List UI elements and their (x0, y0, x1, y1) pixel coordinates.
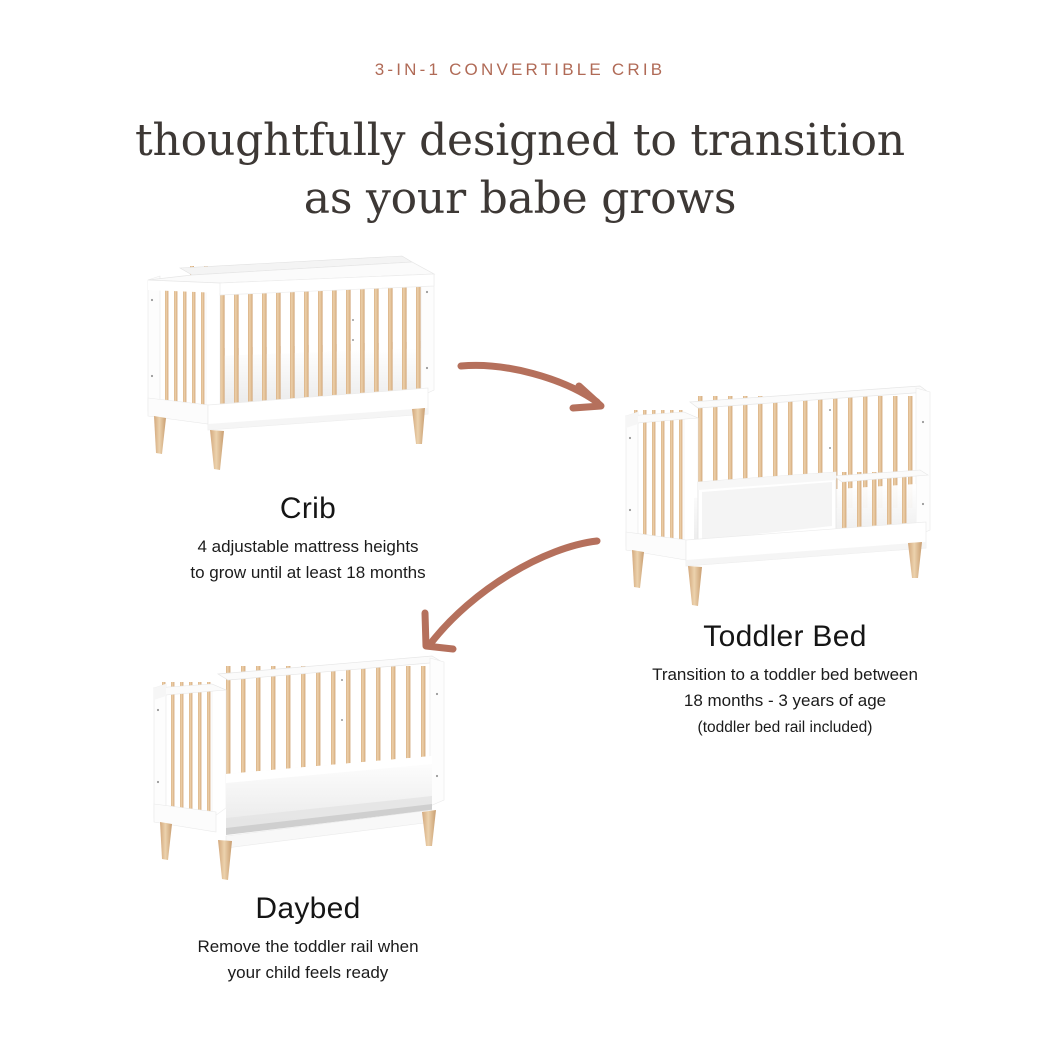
caption-toddler-line-1: Transition to a toddler bed between (585, 662, 985, 688)
daybed-post-back-right (430, 658, 444, 806)
daybed-post-front-left (154, 684, 166, 818)
caption-crib-line-1: 4 adjustable mattress heights (108, 534, 508, 560)
crib-leg-front-right (412, 408, 425, 444)
toddler-post-back-right (916, 388, 930, 536)
caption-toddler-title: Toddler Bed (585, 620, 985, 653)
crib-post-corner (206, 278, 220, 415)
crib-post-front-left (148, 276, 160, 411)
toddler-post-front-left (626, 412, 638, 546)
toddler-bed-illustration (598, 380, 946, 625)
crib-leg-front-left (154, 416, 166, 454)
caption-crib: Crib 4 adjustable mattress heights to gr… (108, 492, 508, 585)
caption-toddler-bed: Toddler Bed Transition to a toddler bed … (585, 620, 985, 739)
daybed-post-corner (212, 684, 226, 818)
crib-side-slats (156, 278, 204, 418)
crib-illustration (140, 248, 450, 488)
caption-crib-title: Crib (108, 492, 508, 525)
eyebrow-label: 3-IN-1 CONVERTIBLE CRIB (0, 60, 1040, 80)
crib-post-right (421, 270, 434, 396)
toddler-side-slats (634, 410, 682, 550)
toddler-leg-right (908, 542, 922, 578)
headline-line-2: as your babe grows (0, 170, 1040, 228)
headline-line-1: thoughtfully designed to transition (135, 115, 905, 166)
caption-crib-line-2: to grow until at least 18 months (108, 560, 508, 586)
toddler-leg-center (688, 566, 702, 606)
caption-toddler-body: Transition to a toddler bed between 18 m… (585, 662, 985, 739)
caption-daybed: Daybed Remove the toddler rail when your… (108, 892, 508, 985)
crib-leg-front-center (210, 430, 224, 470)
page-title: thoughtfully designed to transition as y… (0, 112, 1040, 228)
toddler-back-top-rail (690, 386, 928, 408)
caption-toddler-line-2: 18 months - 3 years of age (585, 688, 985, 714)
caption-daybed-line-1: Remove the toddler rail when (108, 934, 508, 960)
daybed-leg-right (422, 810, 436, 846)
daybed-illustration (130, 650, 470, 890)
caption-daybed-body: Remove the toddler rail when your child … (108, 934, 508, 985)
infographic-page: 3-IN-1 CONVERTIBLE CRIB thoughtfully des… (0, 0, 1040, 1040)
daybed-leg-left (160, 822, 172, 860)
caption-crib-body: 4 adjustable mattress heights to grow un… (108, 534, 508, 585)
caption-toddler-line-3: (toddler bed rail included) (585, 716, 985, 739)
daybed-leg-center (218, 840, 232, 880)
daybed-side-slats (162, 682, 210, 822)
caption-daybed-line-2: your child feels ready (108, 960, 508, 986)
toddler-leg-left (632, 550, 644, 588)
caption-daybed-title: Daybed (108, 892, 508, 925)
